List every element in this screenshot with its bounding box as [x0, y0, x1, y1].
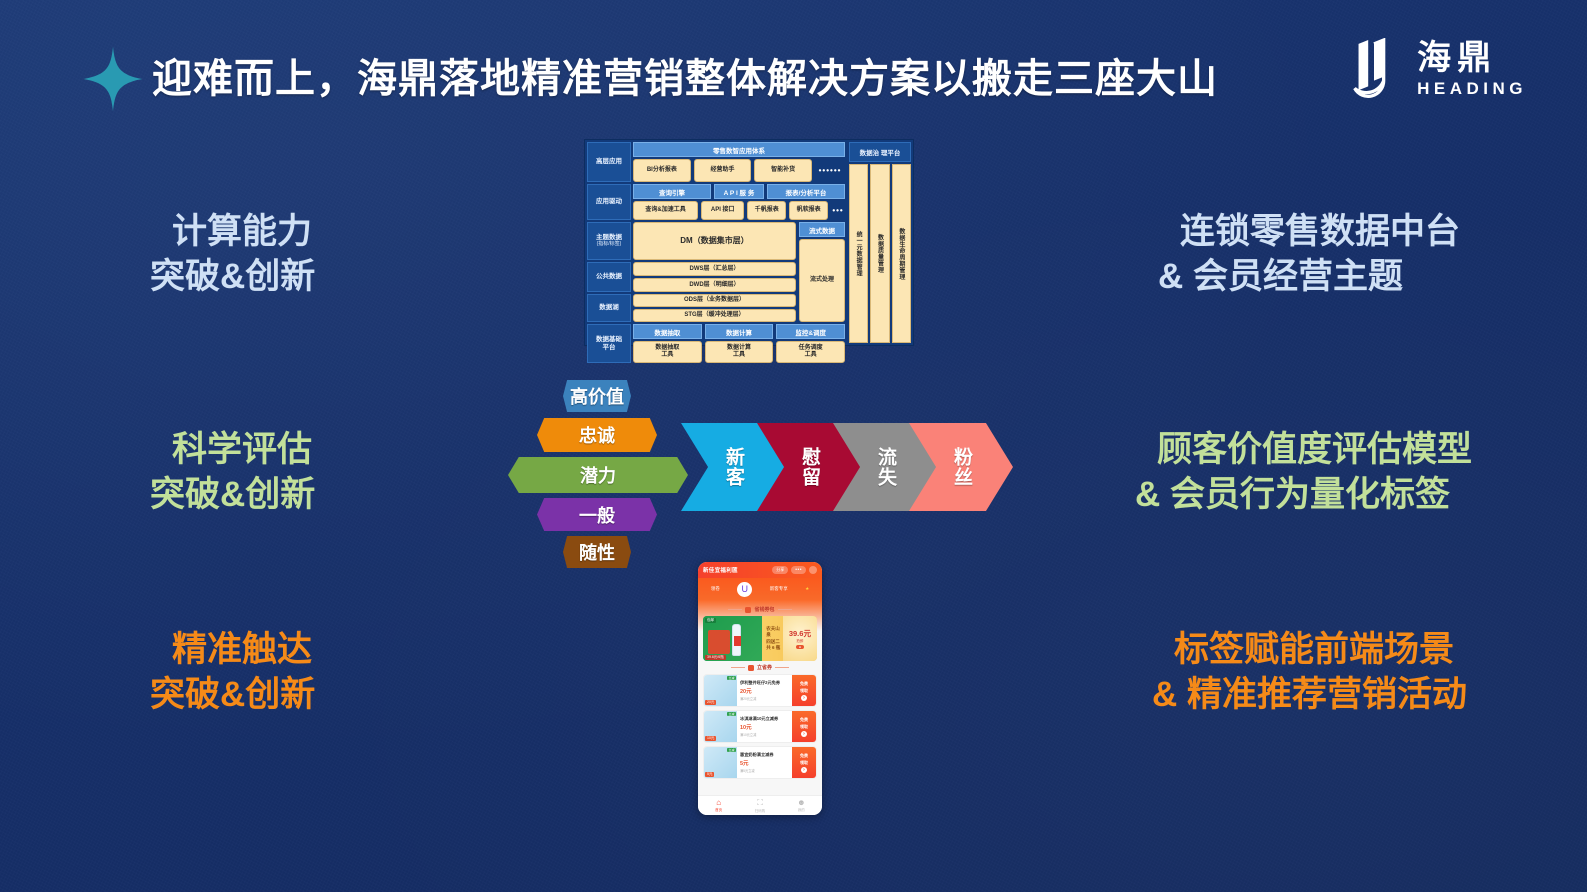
sparkle-star-icon [78, 44, 148, 114]
left-block-1-line2: 突破&创新 [150, 255, 315, 300]
logo-cn-text: 海鼎 [1417, 41, 1497, 75]
tab-scan[interactable]: ⛶ 扫码购 [739, 796, 780, 815]
logo-en-text: HEADING [1417, 80, 1527, 97]
section-divider-left [728, 609, 742, 610]
arch-main-column: 零售数智应用体系 BI分析报表 经营助手 智能补货 •••••• 查询引擎 A … [633, 140, 847, 345]
arch-row1-header: 零售数智应用体系 [633, 142, 845, 157]
coupon-name: 惠宜奶粉满立减券 [740, 752, 789, 758]
arch-cell-smart-replenish: 智能补货 [754, 159, 812, 183]
coupon-name: 伊利整件旺仔2元免券 [740, 680, 789, 686]
section2-divider-left [731, 667, 745, 668]
arch-row-label-1: 应用驱动 [587, 184, 631, 220]
left-block-2-line2: 突破&创新 [150, 473, 315, 518]
section2-divider-right [775, 667, 789, 668]
arch-row-label-1-text: 应用驱动 [596, 198, 622, 205]
arch-row-label-0: 高层应用 [587, 142, 631, 182]
arch-cell-qianfan-report: 千帆报表 [747, 201, 786, 221]
customer-value-funnel: 高价值 忠诚 潜力 一般 随性 新客 慰留 流失 粉丝 [505, 378, 995, 578]
arch-cell-dws: DWS层（汇总层） [633, 262, 796, 276]
coupon-btn-line1: 免费 [800, 753, 808, 759]
arch-row2-header-query: 查询引擎 [633, 184, 711, 199]
phone-header-actions: 分享 ••• [772, 566, 817, 574]
arch-stream-column: 流式数据 流式处理 [799, 222, 845, 322]
arch-row2-header-report: 报表/分析平台 [767, 184, 845, 199]
arch-stream-body: 流式处理 [799, 239, 845, 323]
arch-cell-ops-assistant: 经营助手 [694, 159, 752, 183]
coupon-amount-badge: 10元 [705, 736, 716, 741]
arch-row-label-5-sub: 平台 [603, 344, 616, 351]
right-block-2-line1: 顾客价值度评估模型 [1135, 428, 1472, 473]
promo-name-line3: 共 6 瓶 [766, 645, 783, 651]
coupon-btn-line1: 免费 [800, 717, 808, 723]
phone-brand-badge-icon: U [737, 582, 752, 597]
governance-item-quality: 数据质量管理 [870, 164, 889, 343]
home-icon: ⌂ [716, 798, 721, 807]
architecture-diagram: 高层应用 应用驱动 主题数据 (指标/标签) 公共数据 数据湖 数据基础 平台 [584, 139, 914, 346]
coupon-price: 10元 [740, 723, 789, 731]
coupon-icon [748, 665, 754, 671]
arch-row2-cells: 查询&加速工具 API 接口 千帆报表 帆软报表 ••• [633, 201, 845, 221]
right-block-3: 标签赋能前端场景 & 精准推荐营销活动 [1152, 628, 1467, 718]
phone-app-header: 新佳宜福利匯 分享 ••• [698, 562, 822, 578]
arch-band-lake: ODS层（业务数据层） STG层（缓冲处理层） [633, 294, 796, 322]
coupon-note: 满5元立减 [740, 768, 789, 773]
phone-sub-nav: 领卷 U 新客专享 ★ [698, 578, 822, 600]
coupon-name: 冰淇淋满10元立减券 [740, 716, 789, 722]
arch-cell-dm: DM（数据集市层） [633, 222, 796, 260]
page-title: 迎难而上，海鼎落地精准营销整体解决方案以搬走三座大山 [152, 46, 1218, 104]
arch-cell-fanruan-report: 帆软报表 [789, 201, 828, 221]
arch-row6-headers: 数据抽取 数据计算 监控&调度 [633, 324, 845, 339]
left-block-1-line1: 计算能力 [150, 210, 315, 255]
arch-cell-compute-tool: 数据计算 工具 [705, 341, 774, 364]
coupon-thumbnail: 立减 20元 [704, 675, 737, 706]
phone-star-icon: ★ [805, 586, 809, 592]
slide-canvas: 迎难而上，海鼎落地精准营销整体解决方案以搬走三座大山 海鼎 HEADING 计算… [0, 0, 1587, 892]
promo-amount-sub: 拍即 [796, 639, 803, 644]
funnel-band-high-value: 高价值 [563, 380, 631, 412]
coupon-row[interactable]: 立减 20元 伊利整件旺仔2元免券 20元 满20元立减 免费 领取 › [703, 674, 817, 707]
arch-row-label-4: 数据湖 [587, 294, 631, 322]
arch-row6-header-compute: 数据计算 [705, 324, 774, 339]
arch-row-label-3: 公共数据 [587, 262, 631, 292]
coupon-arrow-icon: › [801, 695, 807, 701]
left-block-3-line1: 精准触达 [150, 628, 315, 673]
coupon-arrow-icon: › [801, 767, 807, 773]
promo-banner-text: 农夫山泉 四送二 共 6 瓶 [762, 616, 783, 661]
phone-app-title: 新佳宜福利匯 [703, 566, 738, 574]
coupon-row[interactable]: 立减 5元 惠宜奶粉满立减券 5元 满5元立减 免费 领取 › [703, 746, 817, 779]
phone-section-2-text: 立省券 [757, 664, 772, 671]
arch-cell-stg: STG层（缓冲处理层） [633, 309, 796, 322]
promo-banner-image: 包邮 39.6元/6瓶 [703, 616, 762, 661]
governance-item-metadata: 统一元数据管理 [849, 164, 868, 343]
coupon-thumbnail: 立减 10元 [704, 711, 737, 742]
coupon-green-tag: 立减 [727, 676, 736, 680]
arch-governance-panel: 数据治 理平台 统一元数据管理 数据质量管理 数据生命周期管理 [847, 140, 913, 345]
coupon-btn-line2: 领取 [800, 760, 808, 766]
funnel-band-potential: 潜力 [508, 457, 688, 493]
tab-profile[interactable]: ☻ 我的 [781, 796, 822, 815]
arch-row2-dots: ••• [831, 201, 845, 221]
funnel-band-loyal: 忠诚 [537, 418, 657, 452]
phone-section-title-1: 省钱券包 [703, 606, 817, 613]
promo-amount-block: 39.6元 拍即 ● [783, 616, 817, 661]
phone-promo-banner[interactable]: 包邮 39.6元/6瓶 农夫山泉 四送二 共 6 瓶 39.6元 拍即 ● [703, 616, 817, 661]
phone-share-button[interactable]: 分享 [772, 566, 788, 574]
phone-nav-left-label[interactable]: 领卷 [711, 586, 720, 592]
coupon-claim-button[interactable]: 免费 领取 › [792, 747, 816, 778]
brand-logo: 海鼎 HEADING [1345, 38, 1527, 100]
arch-cell-dwd: DWD层（明细层） [633, 278, 796, 292]
arch-row-label-3-text: 公共数据 [596, 273, 622, 280]
right-block-2: 顾客价值度评估模型 & 会员行为量化标签 [1135, 428, 1472, 518]
arch-cell-ods: ODS层（业务数据层） [633, 294, 796, 307]
promo-tag-badge: 包邮 [705, 618, 716, 623]
funnel-band-general: 一般 [537, 498, 657, 531]
section-divider-right [778, 609, 792, 610]
left-block-3-line2: 突破&创新 [150, 673, 315, 718]
arrow-fan-label: 粉丝 [951, 447, 971, 487]
phone-section-1-text: 省钱券包 [754, 606, 774, 613]
phone-tab-bar: ⌂ 首页 ⛶ 扫码购 ☻ 我的 [698, 795, 822, 815]
left-block-3: 精准触达 突破&创新 [150, 628, 315, 718]
arrow-new-customer-label: 新客 [723, 447, 743, 487]
coupon-amount-badge: 5元 [705, 772, 714, 777]
coupon-btn-line2: 领取 [800, 688, 808, 694]
coupon-green-tag: 立减 [727, 748, 736, 752]
phone-content: 省钱券包 包邮 39.6元/6瓶 农夫山泉 四送二 共 6 瓶 [698, 600, 822, 795]
arrow-churn-label: 流失 [875, 447, 895, 487]
arch-band-dm: DM（数据集市层） [633, 222, 796, 260]
promo-claim-button[interactable]: ● [796, 645, 804, 649]
governance-items: 统一元数据管理 数据质量管理 数据生命周期管理 [849, 164, 911, 343]
coupon-thumbnail: 立减 5元 [704, 747, 737, 778]
arch-cell-query-tool: 查询&加速工具 [633, 201, 698, 221]
coupon-amount-badge: 20元 [705, 700, 716, 705]
arch-layer-stack: DM（数据集市层） DWS层（汇总层） DWD层（明细层） ODS层（业务数据层… [633, 222, 796, 322]
promo-amount-value: 39.6元 [789, 628, 811, 639]
heading-logo-mark-icon [1345, 38, 1403, 100]
governance-item-lifecycle: 数据生命周期管理 [892, 164, 911, 343]
coupon-info: 冰淇淋满10元立减券 10元 满10元立减 [737, 711, 792, 742]
arch-row6-header-extract: 数据抽取 [633, 324, 702, 339]
phone-nav-right-label[interactable]: 新客专享 [770, 586, 788, 592]
arch-row-label-5-text: 数据基础 [596, 336, 622, 343]
coupon-note: 满10元立减 [740, 732, 789, 737]
arch-band-platform: 数据抽取 数据计算 监控&调度 数据抽取 工具 数据计算 工具 任务调度 工具 [633, 324, 845, 363]
arch-row-label-0-text: 高层应用 [596, 158, 622, 165]
arch-band-app-drive: 查询引擎 A P I 服 务 报表/分析平台 查询&加速工具 API 接口 千帆… [633, 184, 845, 220]
coupon-claim-button[interactable]: 免费 领取 › [792, 675, 816, 706]
arch-row-labels: 高层应用 应用驱动 主题数据 (指标/标签) 公共数据 数据湖 数据基础 平台 [585, 140, 633, 345]
left-block-1: 计算能力 突破&创新 [150, 210, 315, 300]
promo-box-shape [708, 630, 730, 654]
arch-row2-header-api: A P I 服 务 [714, 184, 764, 199]
phone-target-icon[interactable] [809, 566, 817, 574]
promo-name-block: 农夫山泉 四送二 共 6 瓶 [766, 626, 783, 650]
right-block-1-line1: 连锁零售数据中台 [1158, 210, 1460, 255]
arch-cell-api-interface: API 接口 [701, 201, 744, 221]
promo-name-line1: 农夫山泉 [766, 626, 783, 638]
right-block-3-line1: 标签赋能前端场景 [1152, 628, 1467, 673]
coupon-info: 惠宜奶粉满立减券 5元 满5元立减 [737, 747, 792, 778]
arch-row6-header-monitor: 监控&调度 [776, 324, 845, 339]
arch-row6-cells: 数据抽取 工具 数据计算 工具 任务调度 工具 [633, 341, 845, 364]
tab-home[interactable]: ⌂ 首页 [698, 796, 739, 815]
arch-band-apps: 零售数智应用体系 BI分析报表 经营助手 智能补货 •••••• [633, 142, 845, 182]
coupon-price: 20元 [740, 687, 789, 695]
governance-header: 数据治 理平台 [849, 142, 911, 162]
arch-row-label-5: 数据基础 平台 [587, 324, 631, 363]
promo-price-badge: 39.6元/6瓶 [705, 655, 726, 660]
coupon-arrow-icon: › [801, 731, 807, 737]
gift-icon [745, 607, 751, 613]
phone-more-button[interactable]: ••• [791, 566, 806, 574]
arch-row-label-4-text: 数据湖 [599, 304, 619, 311]
right-block-3-line2: & 精准推荐营销活动 [1152, 673, 1467, 718]
arrow-retain-label: 慰留 [799, 447, 819, 487]
coupon-price: 5元 [740, 759, 789, 767]
coupon-info: 伊利整件旺仔2元免券 20元 满20元立减 [737, 675, 792, 706]
right-block-1-line2: & 会员经营主题 [1158, 255, 1460, 300]
right-block-2-line2: & 会员行为量化标签 [1135, 473, 1472, 518]
arch-band-public: DWS层（汇总层） DWD层（明细层） [633, 262, 796, 292]
user-icon: ☻ [797, 798, 805, 807]
arch-cell-bi-report: BI分析报表 [633, 159, 691, 183]
arch-data-layers: DM（数据集市层） DWS层（汇总层） DWD层（明细层） ODS层（业务数据层… [633, 222, 845, 322]
coupon-claim-button[interactable]: 免费 领取 › [792, 711, 816, 742]
arch-row-label-2: 主题数据 (指标/标签) [587, 222, 631, 260]
phone-section-title-2: 立省券 [703, 664, 817, 671]
left-block-2: 科学评估 突破&创新 [150, 428, 315, 518]
arch-stream-header: 流式数据 [799, 222, 845, 237]
tab-scan-label: 扫码购 [755, 809, 766, 814]
coupon-green-tag: 立减 [727, 712, 736, 716]
promo-bottle-shape [732, 624, 741, 656]
coupon-btn-line1: 免费 [800, 681, 808, 687]
arch-row1-dots: •••••• [815, 159, 845, 183]
coupon-btn-line2: 领取 [800, 724, 808, 730]
funnel-band-casual: 随性 [563, 536, 631, 568]
coupon-note: 满20元立减 [740, 696, 789, 701]
tab-profile-label: 我的 [798, 808, 805, 813]
arch-cell-schedule-tool: 任务调度 工具 [776, 341, 845, 364]
left-block-2-line1: 科学评估 [150, 428, 315, 473]
arch-row2-headers: 查询引擎 A P I 服 务 报表/分析平台 [633, 184, 845, 199]
tab-home-label: 首页 [715, 808, 722, 813]
arch-row1-cells: BI分析报表 经营助手 智能补货 •••••• [633, 159, 845, 183]
phone-mockup: 新佳宜福利匯 分享 ••• 领卷 U 新客专享 ★ 省钱券包 包邮 [698, 562, 822, 815]
scan-icon: ⛶ [757, 798, 763, 808]
arch-row-label-2-sub: (指标/标签) [597, 242, 622, 248]
arch-cell-extract-tool: 数据抽取 工具 [633, 341, 702, 364]
coupon-row[interactable]: 立减 10元 冰淇淋满10元立减券 10元 满10元立减 免费 领取 › [703, 710, 817, 743]
right-block-1: 连锁零售数据中台 & 会员经营主题 [1158, 210, 1460, 300]
